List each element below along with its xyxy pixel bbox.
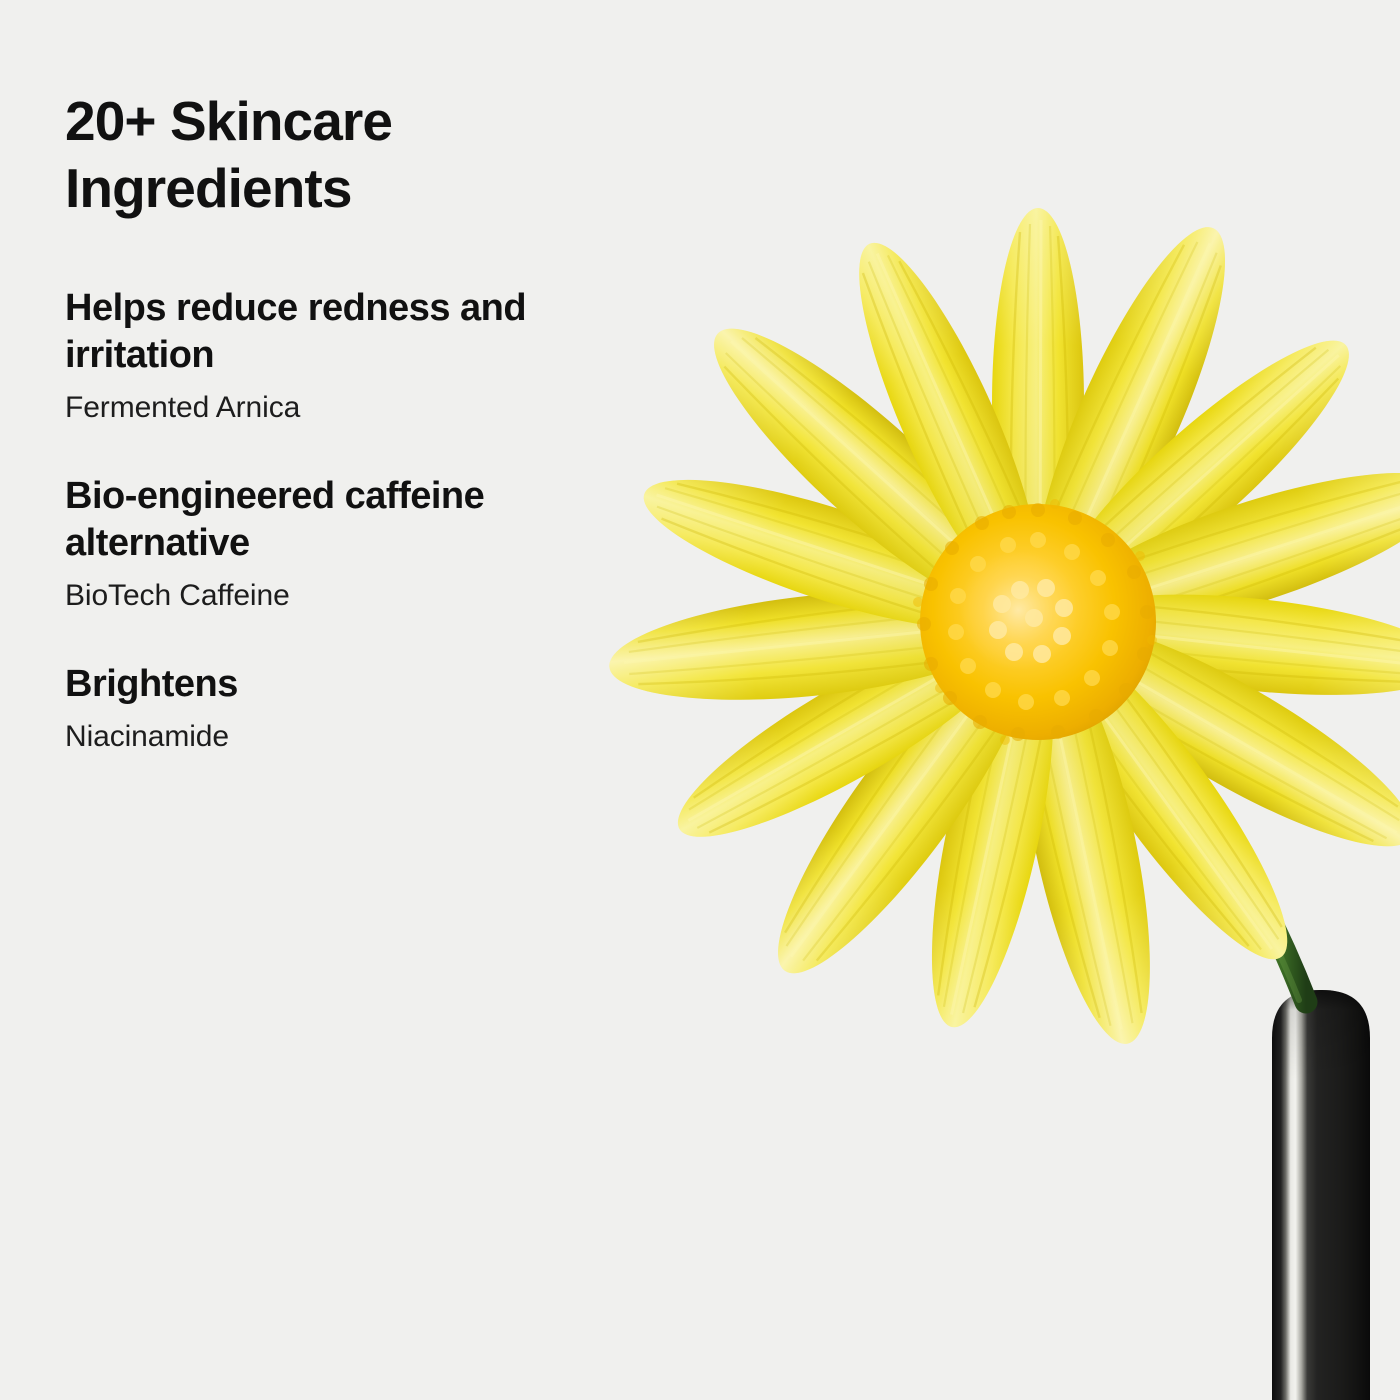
product-ingredient-card: 20+ Skincare Ingredients Helps reduce re… <box>0 0 1400 1400</box>
benefit-item-1: Bio-engineered caffeine alternative BioT… <box>65 473 685 615</box>
page-title: 20+ Skincare Ingredients <box>65 88 485 221</box>
benefit-title: Bio-engineered caffeine alternative <box>65 473 605 567</box>
vase <box>1272 990 1370 1400</box>
ingredient-benefits-panel: 20+ Skincare Ingredients Helps reduce re… <box>65 88 685 755</box>
benefit-ingredient: BioTech Caffeine <box>65 577 685 615</box>
benefit-title: Helps reduce redness and irritation <box>65 285 605 379</box>
benefit-title: Brightens <box>65 661 605 708</box>
benefit-item-2: Brightens Niacinamide <box>65 661 685 756</box>
benefit-ingredient: Fermented Arnica <box>65 389 685 427</box>
benefit-ingredient: Niacinamide <box>65 718 685 756</box>
benefit-item-0: Helps reduce redness and irritation Ferm… <box>65 285 685 427</box>
